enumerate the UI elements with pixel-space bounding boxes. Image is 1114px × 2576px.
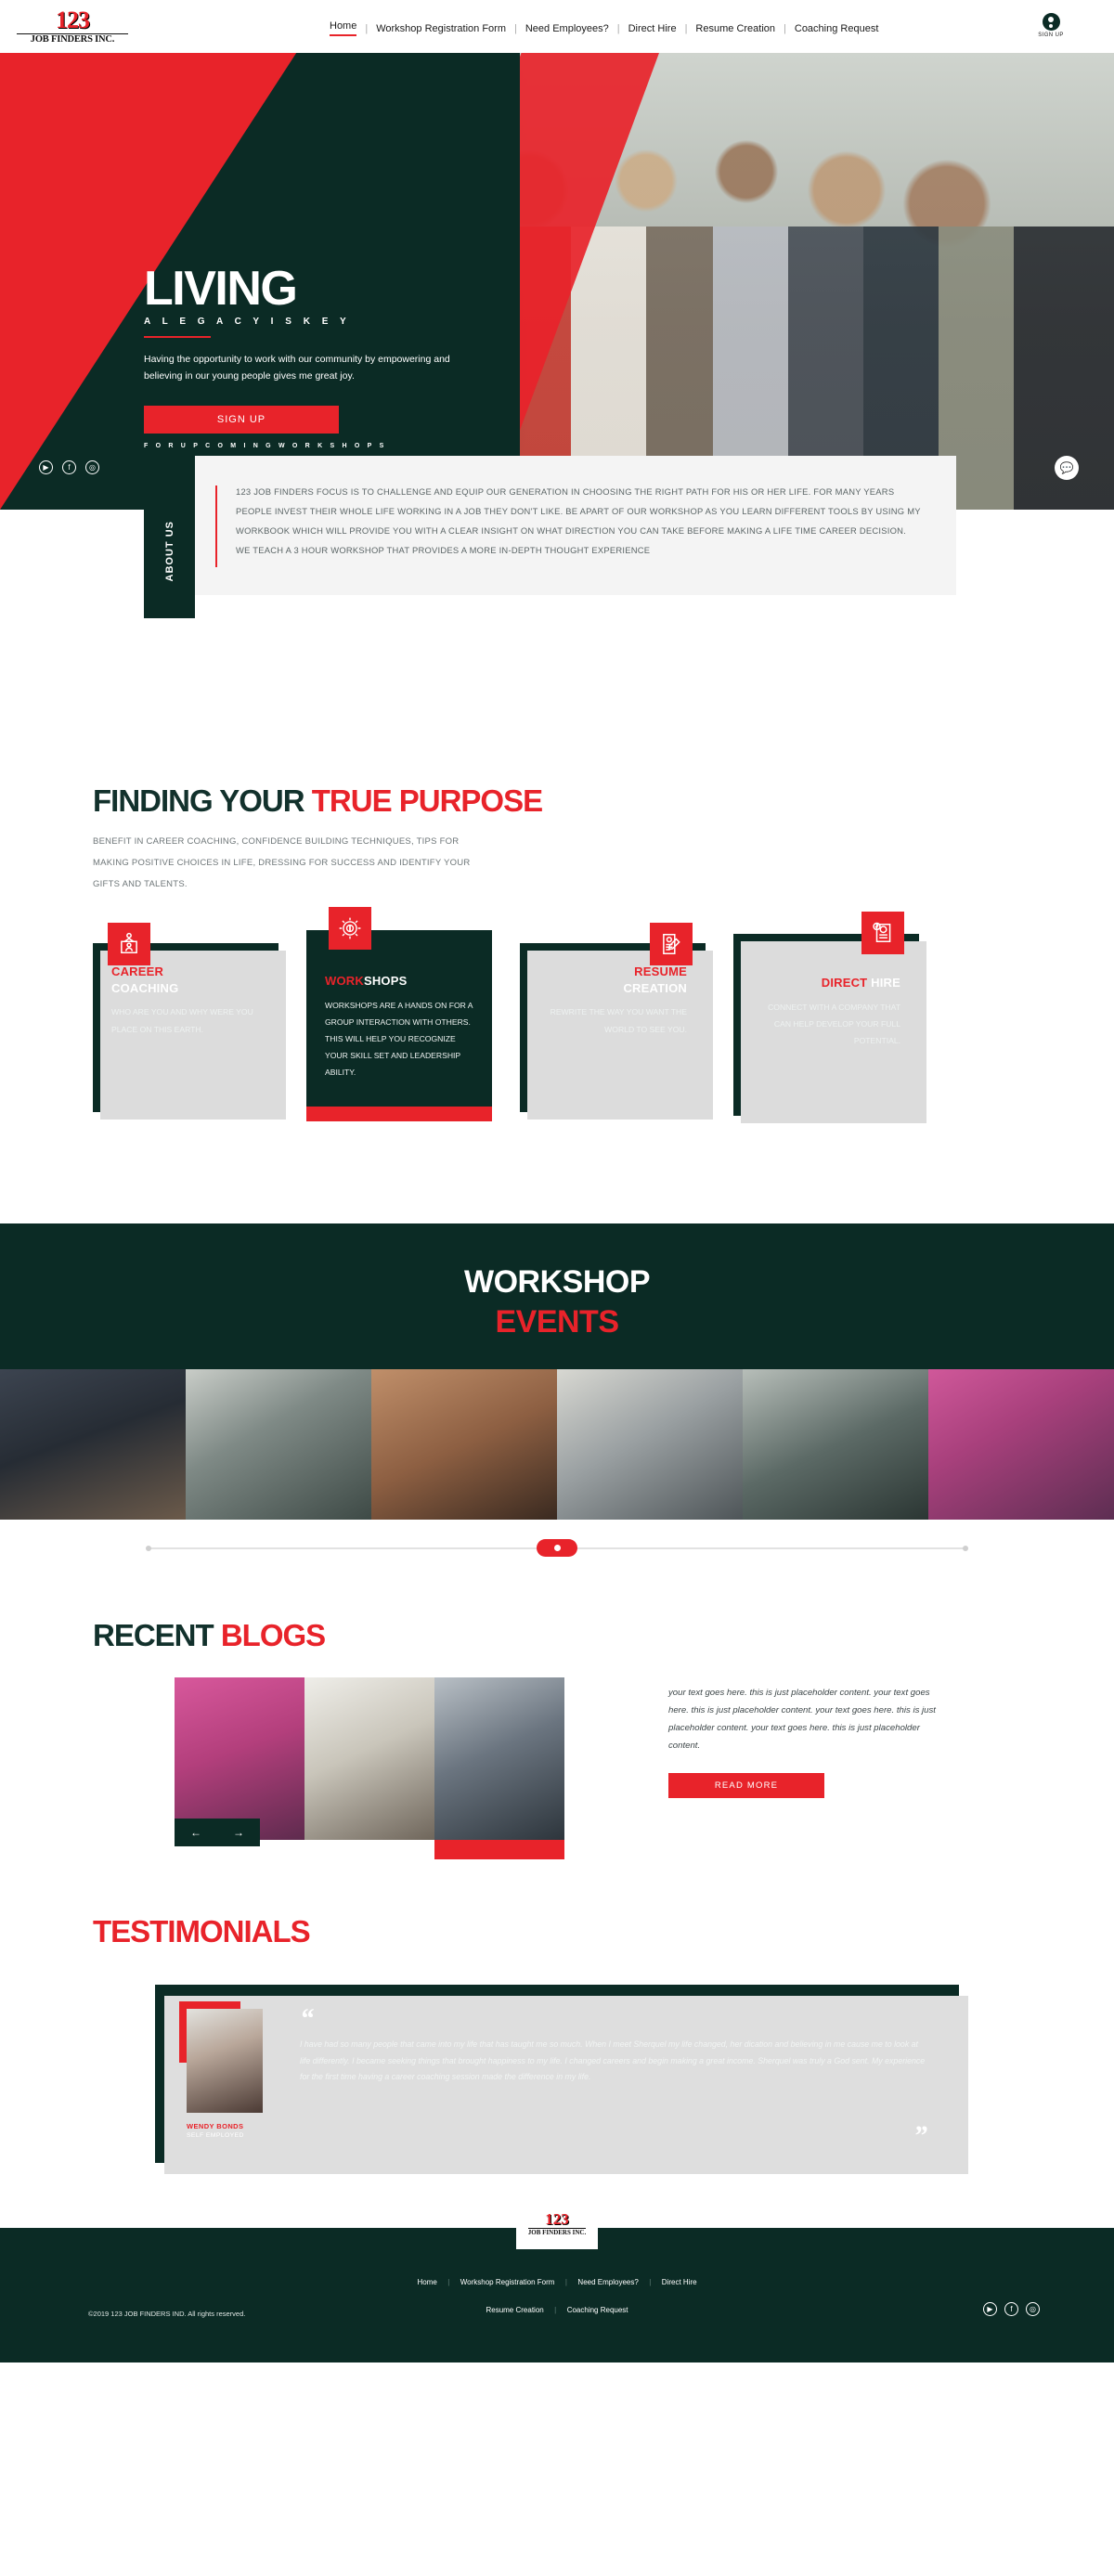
arrow-right-icon[interactable]: →	[233, 1826, 244, 1839]
quote-open-icon: “	[300, 2011, 927, 2027]
footer-nav: Home | Workshop Registration Form | Need…	[417, 2272, 696, 2317]
service-cards: CAREERCOACHING WHO ARE YOU AND WHY WERE …	[74, 921, 1040, 1153]
service-card-title-red: DIRECT	[822, 976, 871, 990]
blog-image-carousel: ← →	[93, 1677, 566, 1840]
footer-divider-4: |	[554, 2306, 556, 2314]
footer-social-links: ▶ f ◎	[983, 2302, 1040, 2316]
gallery-image[interactable]	[186, 1369, 371, 1520]
footer-nav-coaching-request[interactable]: Coaching Request	[567, 2306, 628, 2314]
youtube-icon[interactable]: ▶	[39, 460, 53, 474]
blogs-row: ← → your text goes here. this is just pl…	[74, 1677, 1040, 1840]
nav-divider-4: |	[685, 23, 688, 34]
facebook-icon[interactable]: f	[62, 460, 76, 474]
nav-item-need-employees[interactable]: Need Employees?	[525, 23, 609, 34]
service-card-direct-hire[interactable]: DIRECT HIRE CONNECT WITH A COMPANY THAT …	[733, 934, 919, 1116]
footer-logo[interactable]: 123 JOB FINDERS INC.	[516, 2197, 598, 2249]
about-section: ABOUT US 123 JOB FINDERS FOCUS IS TO CHA…	[0, 510, 1114, 695]
events-gallery	[0, 1369, 1114, 1520]
footer-copyright: ©2019 123 JOB FINDERS IND. All rights re…	[88, 2310, 245, 2318]
service-card-body: CONNECT WITH A COMPANY THAT CAN HELP DEV…	[752, 999, 900, 1049]
gallery-image[interactable]	[743, 1369, 928, 1520]
testimonial-body: “ I have had so many people that came in…	[300, 2009, 927, 2139]
gear-wrench-icon	[329, 907, 371, 950]
hero-cta-subtext: F O R U P C O M I N G W O R K S H O P S	[144, 443, 450, 449]
site-logo[interactable]: 123 JOB FINDERS INC.	[17, 9, 128, 45]
about-accent-bar	[215, 485, 217, 567]
gallery-image[interactable]	[928, 1369, 1114, 1520]
read-more-button[interactable]: READ MORE	[668, 1773, 824, 1798]
signup-label: SIGN UP	[1032, 32, 1069, 38]
verified-profile-icon	[861, 912, 904, 954]
service-card-title: DIRECT HIRE	[752, 975, 900, 991]
arrow-left-icon[interactable]: ←	[190, 1826, 201, 1839]
footer-nav-direct-hire[interactable]: Direct Hire	[662, 2278, 697, 2286]
slider-start-dot	[146, 1546, 151, 1551]
blogs-title-red: BLOGS	[221, 1618, 325, 1652]
workshops-card-accent	[306, 1107, 492, 1121]
nav-divider-1: |	[365, 23, 368, 34]
service-card-career-coaching[interactable]: CAREERCOACHING WHO ARE YOU AND WHY WERE …	[93, 943, 278, 1112]
events-title-red: EVENTS	[495, 1304, 618, 1340]
about-tab-label: ABOUT US	[164, 521, 175, 581]
nav-divider-2: |	[514, 23, 517, 34]
blog-image[interactable]	[304, 1677, 434, 1840]
nav-item-home[interactable]: Home	[330, 20, 356, 36]
hero-section: LIVING A L E G A C Y I S K E Y Having th…	[0, 53, 1114, 510]
quote-close-icon: ”	[913, 2128, 927, 2144]
footer-nav-need-employees[interactable]: Need Employees?	[577, 2278, 638, 2286]
testimonials-section: TESTIMONIALS WENDY BONDS SELF EMPLOYED “…	[0, 1840, 1114, 2228]
service-card-title-white: SHOPS	[364, 974, 408, 988]
about-card: 123 JOB FINDERS FOCUS IS TO CHALLENGE AN…	[195, 456, 956, 595]
gallery-slider-thumb[interactable]	[537, 1539, 577, 1557]
service-card-title-white: COACHING	[111, 981, 178, 995]
service-card-title-white: CREATION	[623, 981, 687, 995]
nav-divider-3: |	[617, 23, 620, 34]
footer-divider-1: |	[447, 2278, 449, 2286]
blog-body: your text goes here. this is just placeh…	[668, 1685, 947, 1754]
slider-end-dot	[963, 1546, 968, 1551]
service-card-workshops[interactable]: WORKSHOPS WORKSHOPS ARE A HANDS ON FOR A…	[306, 930, 492, 1107]
blog-image[interactable]	[175, 1677, 304, 1840]
purpose-section: FINDING YOUR TRUE PURPOSE BENEFIT IN CAR…	[0, 695, 1114, 1153]
blog-text-block: your text goes here. this is just placeh…	[668, 1677, 947, 1840]
nav-item-resume-creation[interactable]: Resume Creation	[695, 23, 775, 34]
footer-divider-2: |	[565, 2278, 567, 2286]
landing-page: 2 Country Court Braintree, MA 02184 | in…	[0, 0, 1114, 2362]
logo-number: 123	[17, 9, 128, 32]
footer-nav-resume-creation[interactable]: Resume Creation	[486, 2306, 543, 2314]
hero-signup-button[interactable]: SIGN UP	[144, 406, 339, 434]
service-card-body: WORKSHOPS ARE A HANDS ON FOR A GROUP INT…	[325, 997, 473, 1081]
workshop-events-section: WORKSHOP EVENTS	[0, 1223, 1114, 1520]
presentation-person-icon	[108, 923, 150, 965]
testimonial-author-name: WENDY BONDS	[187, 2122, 263, 2130]
nav-item-coaching-request[interactable]: Coaching Request	[795, 23, 879, 34]
service-card-title-white: HIRE	[871, 976, 900, 990]
resume-pencil-icon	[650, 923, 693, 965]
purpose-title-red: TRUE PURPOSE	[312, 783, 542, 818]
logo-name: JOB FINDERS INC.	[17, 33, 128, 45]
primary-nav: Home | Workshop Registration Form | Need…	[330, 20, 878, 36]
nav-divider-5: |	[784, 23, 786, 34]
hero-content: LIVING A L E G A C Y I S K E Y Having th…	[144, 265, 450, 449]
footer-logo-number: 123	[545, 2211, 569, 2227]
blogs-title-dark: RECENT	[93, 1618, 221, 1652]
instagram-icon[interactable]: ◎	[1026, 2302, 1040, 2316]
purpose-description: BENEFIT IN CAREER COACHING, CONFIDENCE B…	[93, 832, 483, 895]
chat-bubble-icon[interactable]: 💬	[1055, 456, 1079, 480]
main-header: 123 JOB FINDERS INC. Home | Workshop Reg…	[0, 0, 1114, 53]
service-card-title-red: WORK	[325, 974, 364, 988]
facebook-icon[interactable]: f	[1004, 2302, 1018, 2316]
service-card-title: WORKSHOPS	[325, 973, 473, 990]
purpose-title-dark: FINDING YOUR	[93, 783, 312, 818]
testimonials-title: TESTIMONIALS	[93, 1914, 1040, 1949]
footer-nav-home[interactable]: Home	[417, 2278, 436, 2286]
youtube-icon[interactable]: ▶	[983, 2302, 997, 2316]
blogs-title: RECENT BLOGS	[93, 1618, 1040, 1653]
hero-social-links: ▶ f ◎	[39, 460, 99, 474]
hero-description: Having the opportunity to work with our …	[144, 351, 450, 385]
instagram-icon[interactable]: ◎	[85, 460, 99, 474]
testimonial-card: WENDY BONDS SELF EMPLOYED “ I have had s…	[155, 1985, 959, 2163]
hero-subtitle: A L E G A C Y I S K E Y	[144, 317, 450, 327]
nav-item-workshop-registration-form[interactable]: Workshop Registration Form	[376, 23, 506, 34]
signup-account-button[interactable]: SIGN UP	[1032, 13, 1069, 38]
blog-carousel-controls: ← →	[175, 1819, 260, 1846]
service-card-resume-creation[interactable]: RESUMECREATION REWRITE THE WAY YOU WANT …	[520, 943, 706, 1112]
service-card-title-red: RESUME	[634, 964, 687, 978]
testimonial-author-photo	[187, 2009, 263, 2113]
service-card-title: RESUMECREATION	[538, 964, 687, 996]
footer-divider-3: |	[649, 2278, 651, 2286]
gallery-image[interactable]	[371, 1369, 557, 1520]
footer-logo-name: JOB FINDERS INC.	[528, 2228, 586, 2236]
hero-divider	[144, 336, 211, 338]
footer-nav-workshop-registration-form[interactable]: Workshop Registration Form	[460, 2278, 555, 2286]
nav-item-direct-hire[interactable]: Direct Hire	[628, 23, 677, 34]
testimonial-quote: I have had so many people that came into…	[300, 2037, 927, 2084]
testimonial-author-role: SELF EMPLOYED	[187, 2132, 263, 2139]
blog-image[interactable]	[434, 1677, 564, 1840]
events-title-white: WORKSHOP	[464, 1264, 650, 1300]
recent-blogs-section: RECENT BLOGS ← → your text goes here. th…	[0, 1577, 1114, 1840]
site-footer: 123 JOB FINDERS INC. Home | Workshop Reg…	[0, 2228, 1114, 2362]
gallery-image[interactable]	[0, 1369, 186, 1520]
hero-title: LIVING	[144, 265, 450, 313]
about-body-text: 123 JOB FINDERS FOCUS IS TO CHALLENGE AN…	[236, 482, 923, 561]
purpose-title: FINDING YOUR TRUE PURPOSE	[93, 783, 1040, 819]
service-card-body: WHO ARE YOU AND WHY WERE YOU PLACE ON TH…	[111, 1003, 260, 1037]
user-avatar-icon	[1043, 13, 1060, 31]
testimonial-author: WENDY BONDS SELF EMPLOYED	[187, 2009, 263, 2139]
about-tab: ABOUT US	[144, 484, 195, 618]
events-title: WORKSHOP EVENTS	[0, 1262, 1114, 1341]
service-card-body: REWRITE THE WAY YOU WANT THE WORLD TO SE…	[538, 1003, 687, 1037]
gallery-image[interactable]	[557, 1369, 743, 1520]
gallery-slider	[0, 1520, 1114, 1577]
service-card-title-red: CAREER	[111, 964, 163, 978]
service-card-title: CAREERCOACHING	[111, 964, 260, 996]
gallery-slider-track[interactable]	[149, 1547, 965, 1549]
